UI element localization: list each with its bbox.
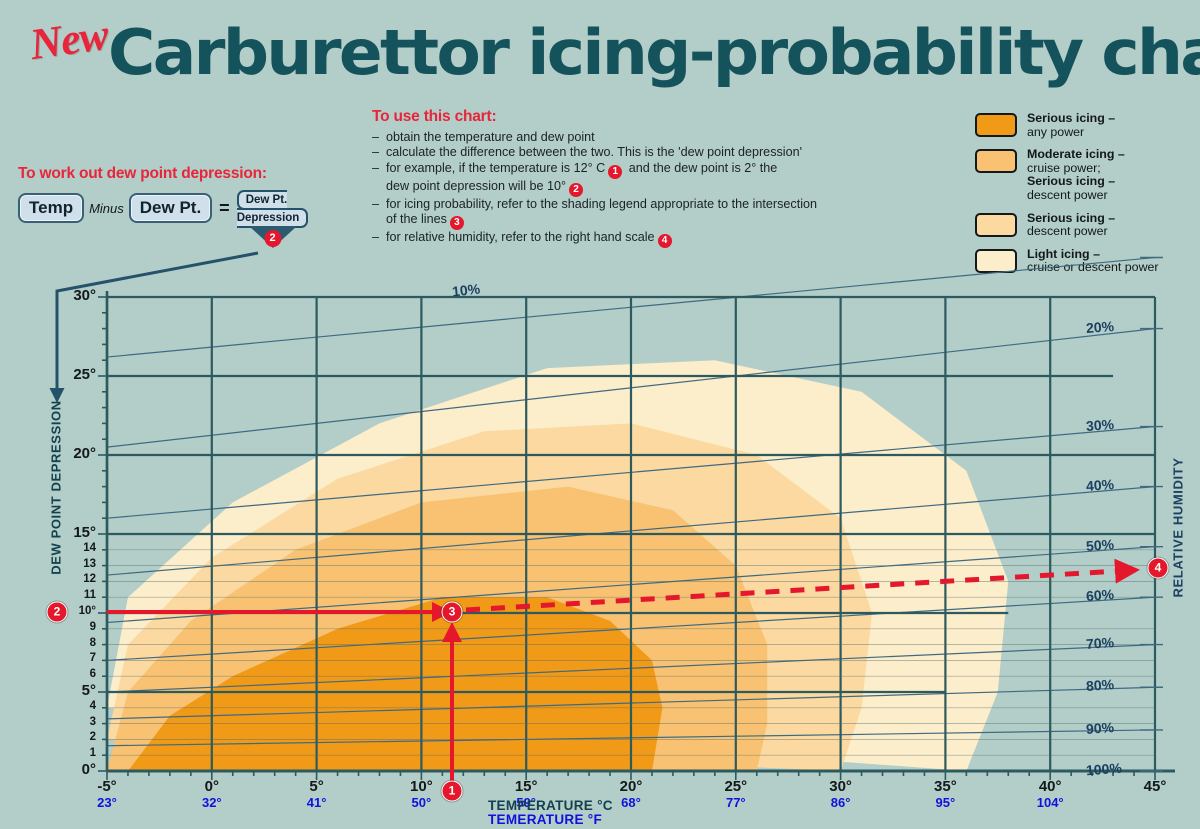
y-axis-label: 5° bbox=[0, 682, 96, 699]
y-axis-label: 25° bbox=[0, 366, 96, 383]
humidity-label: 40% bbox=[1085, 476, 1114, 494]
marker-3: 3 bbox=[442, 602, 463, 623]
y-axis-label: 11 bbox=[0, 589, 96, 601]
relative-humidity-axis-title: RELATIVE HUMIDITY bbox=[1171, 428, 1186, 628]
humidity-label: 50% bbox=[1085, 536, 1114, 554]
x-axis-label-fahrenheit: 41° bbox=[307, 795, 327, 810]
humidity-label: 20% bbox=[1085, 318, 1114, 336]
x-axis-label-celsius: 15° bbox=[515, 778, 538, 795]
x-axis-label-fahrenheit: 23° bbox=[97, 795, 117, 810]
x-axis-label-celsius: 10° bbox=[410, 778, 433, 795]
x-axis-label-fahrenheit: 104° bbox=[1037, 795, 1064, 810]
x-axis-label-celsius: 40° bbox=[1039, 778, 1062, 795]
x-axis-label-fahrenheit: 50° bbox=[412, 795, 432, 810]
marker-4: 4 bbox=[1148, 558, 1169, 579]
x-axis-label-fahrenheit: 86° bbox=[831, 795, 851, 810]
x-axis-label-celsius: -5° bbox=[97, 778, 116, 795]
humidity-label: 90% bbox=[1085, 719, 1114, 737]
y-axis-label: 4 bbox=[0, 700, 96, 712]
x-axis-label-celsius: 20° bbox=[620, 778, 643, 795]
y-axis-label: 0° bbox=[0, 761, 96, 778]
x-axis-label-celsius: 25° bbox=[724, 778, 747, 795]
humidity-label: 70% bbox=[1085, 634, 1114, 652]
y-axis-label: 1 bbox=[0, 747, 96, 759]
x-axis-label-celsius: 0° bbox=[205, 778, 219, 795]
y-axis-label: 30° bbox=[0, 287, 96, 304]
humidity-label: 60% bbox=[1085, 586, 1114, 604]
icing-probability-plot bbox=[0, 0, 1200, 829]
y-axis-label: 7 bbox=[0, 652, 96, 664]
x-axis-label-celsius: 30° bbox=[829, 778, 852, 795]
marker-1: 1 bbox=[442, 781, 463, 802]
x-axis-label-fahrenheit: 32° bbox=[202, 795, 222, 810]
x-axis-label-fahrenheit: 68° bbox=[621, 795, 641, 810]
humidity-label: 10% bbox=[451, 281, 481, 300]
humidity-label: 80% bbox=[1085, 676, 1114, 694]
y-axis-label: 2 bbox=[0, 731, 96, 743]
y-axis-label: 9 bbox=[0, 621, 96, 633]
y-axis-label: 8 bbox=[0, 637, 96, 649]
y-axis-title: DEW POINT DEPRESSION bbox=[49, 388, 64, 588]
x-axis-label-fahrenheit: 77° bbox=[726, 795, 746, 810]
humidity-label: 100% bbox=[1085, 760, 1122, 778]
chart-page: New Carburettor icing-probability chart … bbox=[0, 0, 1200, 829]
y-axis-label: 6 bbox=[0, 668, 96, 680]
x-axis-title-fahrenheit: TEMERATURE °F bbox=[488, 812, 602, 827]
x-axis-label-celsius: 45° bbox=[1144, 778, 1167, 795]
x-axis-label-celsius: 35° bbox=[934, 778, 957, 795]
y-axis-label: 3 bbox=[0, 716, 96, 728]
x-axis-label-fahrenheit: 95° bbox=[936, 795, 956, 810]
marker-2: 2 bbox=[47, 602, 68, 623]
humidity-label: 30% bbox=[1085, 416, 1114, 434]
x-axis-label-celsius: 5° bbox=[309, 778, 323, 795]
x-axis-title-celsius: TEMPERATURE °C bbox=[488, 798, 613, 813]
